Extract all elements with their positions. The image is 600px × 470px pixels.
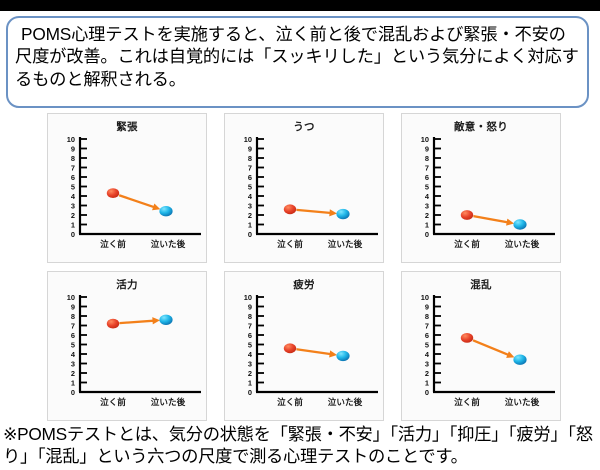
y-tick-label: 9 <box>248 302 252 311</box>
x-tick-label-before: 泣く前 <box>277 238 303 249</box>
top-black-strip <box>0 0 600 11</box>
y-tick-label: 3 <box>425 201 429 210</box>
before-data-point <box>107 319 119 329</box>
y-tick-label: 4 <box>71 350 76 359</box>
y-tick-label: 9 <box>248 144 252 153</box>
y-tick-label: 1 <box>71 220 75 229</box>
y-tick-label: 7 <box>248 321 252 330</box>
y-tick-label: 2 <box>248 211 252 220</box>
charts-grid: 緊張109876543210泣く前泣いた後うつ109876543210泣く前泣い… <box>47 113 561 421</box>
x-tick-label-after: 泣いた後 <box>151 396 186 407</box>
y-tick-label: 10 <box>67 293 75 302</box>
y-tick-label: 6 <box>425 331 429 340</box>
arrow-head <box>152 203 160 210</box>
chart-panel: 疲労109876543210泣く前泣いた後 <box>224 271 384 421</box>
y-tick-label: 10 <box>67 135 75 144</box>
y-tick-label: 7 <box>248 163 252 172</box>
y-tick-label: 0 <box>71 230 75 239</box>
y-tick-label: 9 <box>425 302 429 311</box>
y-tick-label: 7 <box>425 163 429 172</box>
y-tick-label: 10 <box>421 135 429 144</box>
x-tick-label-before: 泣く前 <box>454 238 480 249</box>
arrow-head <box>152 317 160 324</box>
y-tick-label: 10 <box>421 293 429 302</box>
slide-root: POMS心理テストを実施すると、泣く前と後で混乱および緊張・不安の尺度が改善。こ… <box>0 0 600 470</box>
y-tick-label: 7 <box>71 163 75 172</box>
y-tick-label: 0 <box>425 230 429 239</box>
y-tick-label: 4 <box>425 192 430 201</box>
y-tick-label: 9 <box>71 302 75 311</box>
y-tick-label: 5 <box>425 182 429 191</box>
chart-panel: うつ109876543210泣く前泣いた後 <box>224 113 384 263</box>
after-data-point <box>336 351 349 361</box>
arrow-head <box>329 209 337 216</box>
y-tick-label: 2 <box>425 211 429 220</box>
y-tick-label: 2 <box>71 369 75 378</box>
y-tick-label: 3 <box>71 201 75 210</box>
footnote-text: ※POMSテストとは、気分の状態を「緊張・不安」「活力」「抑圧」「疲労」「怒り」… <box>3 423 597 468</box>
y-tick-label: 1 <box>248 378 252 387</box>
y-tick-label: 10 <box>244 293 252 302</box>
chart-panel: 混乱109876543210泣く前泣いた後 <box>401 271 561 421</box>
x-tick-label-after: 泣いた後 <box>505 396 540 407</box>
y-tick-label: 9 <box>71 144 75 153</box>
y-tick-label: 3 <box>248 201 252 210</box>
x-tick-label-after: 泣いた後 <box>328 238 363 249</box>
x-tick-label-before: 泣く前 <box>100 396 126 407</box>
x-tick-label-after: 泣いた後 <box>328 396 363 407</box>
after-data-point <box>159 315 172 325</box>
y-tick-label: 7 <box>425 321 429 330</box>
x-tick-label-after: 泣いた後 <box>151 238 186 249</box>
before-data-point <box>284 204 296 214</box>
after-data-point <box>513 219 526 229</box>
plot-area: 109876543210泣く前泣いた後 <box>402 288 561 421</box>
y-tick-label: 4 <box>248 350 253 359</box>
y-tick-label: 8 <box>71 312 75 321</box>
y-tick-label: 8 <box>248 154 252 163</box>
chart-panel: 緊張109876543210泣く前泣いた後 <box>47 113 207 263</box>
x-tick-label-after: 泣いた後 <box>505 238 540 249</box>
y-tick-label: 6 <box>425 173 429 182</box>
plot-area: 109876543210泣く前泣いた後 <box>225 288 384 421</box>
y-tick-label: 1 <box>71 378 75 387</box>
y-tick-label: 0 <box>248 230 252 239</box>
after-data-point <box>159 206 172 216</box>
y-tick-label: 5 <box>71 182 75 191</box>
y-tick-label: 5 <box>248 182 252 191</box>
y-tick-label: 10 <box>244 135 252 144</box>
y-tick-label: 4 <box>248 192 253 201</box>
y-tick-label: 3 <box>248 359 252 368</box>
y-tick-label: 2 <box>71 211 75 220</box>
y-tick-label: 6 <box>71 331 75 340</box>
plot-area: 109876543210泣く前泣いた後 <box>402 130 561 263</box>
plot-area: 109876543210泣く前泣いた後 <box>48 288 207 421</box>
y-tick-label: 8 <box>425 154 429 163</box>
before-data-point <box>107 188 119 198</box>
x-tick-label-before: 泣く前 <box>100 238 126 249</box>
y-tick-label: 0 <box>425 388 429 397</box>
before-data-point <box>284 343 296 353</box>
y-tick-label: 0 <box>248 388 252 397</box>
y-tick-label: 6 <box>248 173 252 182</box>
chart-panel: 敵意・怒り109876543210泣く前泣いた後 <box>401 113 561 263</box>
y-tick-label: 8 <box>248 312 252 321</box>
before-data-point <box>461 333 473 343</box>
y-tick-label: 1 <box>425 378 429 387</box>
plot-area: 109876543210泣く前泣いた後 <box>48 130 207 263</box>
y-tick-label: 2 <box>425 369 429 378</box>
y-tick-label: 6 <box>248 331 252 340</box>
y-tick-label: 0 <box>71 388 75 397</box>
after-data-point <box>336 209 349 219</box>
y-tick-label: 3 <box>71 359 75 368</box>
y-tick-label: 9 <box>425 144 429 153</box>
plot-area: 109876543210泣く前泣いた後 <box>225 130 384 263</box>
x-tick-label-before: 泣く前 <box>454 396 480 407</box>
y-tick-label: 4 <box>425 350 430 359</box>
y-tick-label: 8 <box>425 312 429 321</box>
y-tick-label: 5 <box>248 340 252 349</box>
header-text: POMS心理テストを実施すると、泣く前と後で混乱および緊張・不安の尺度が改善。こ… <box>15 23 580 90</box>
arrow-head <box>329 350 337 357</box>
y-tick-label: 4 <box>71 192 76 201</box>
y-tick-label: 2 <box>248 369 252 378</box>
after-data-point <box>513 355 526 365</box>
header-callout-box: POMS心理テストを実施すると、泣く前と後で混乱および緊張・不安の尺度が改善。こ… <box>6 16 589 108</box>
x-tick-label-before: 泣く前 <box>277 396 303 407</box>
y-tick-label: 6 <box>71 173 75 182</box>
y-tick-label: 5 <box>425 340 429 349</box>
before-data-point <box>461 210 473 220</box>
chart-panel: 活力109876543210泣く前泣いた後 <box>47 271 207 421</box>
y-tick-label: 7 <box>71 321 75 330</box>
y-tick-label: 1 <box>425 220 429 229</box>
arrow-head <box>506 219 514 226</box>
y-tick-label: 5 <box>71 340 75 349</box>
y-tick-label: 8 <box>71 154 75 163</box>
y-tick-label: 1 <box>248 220 252 229</box>
y-tick-label: 3 <box>425 359 429 368</box>
